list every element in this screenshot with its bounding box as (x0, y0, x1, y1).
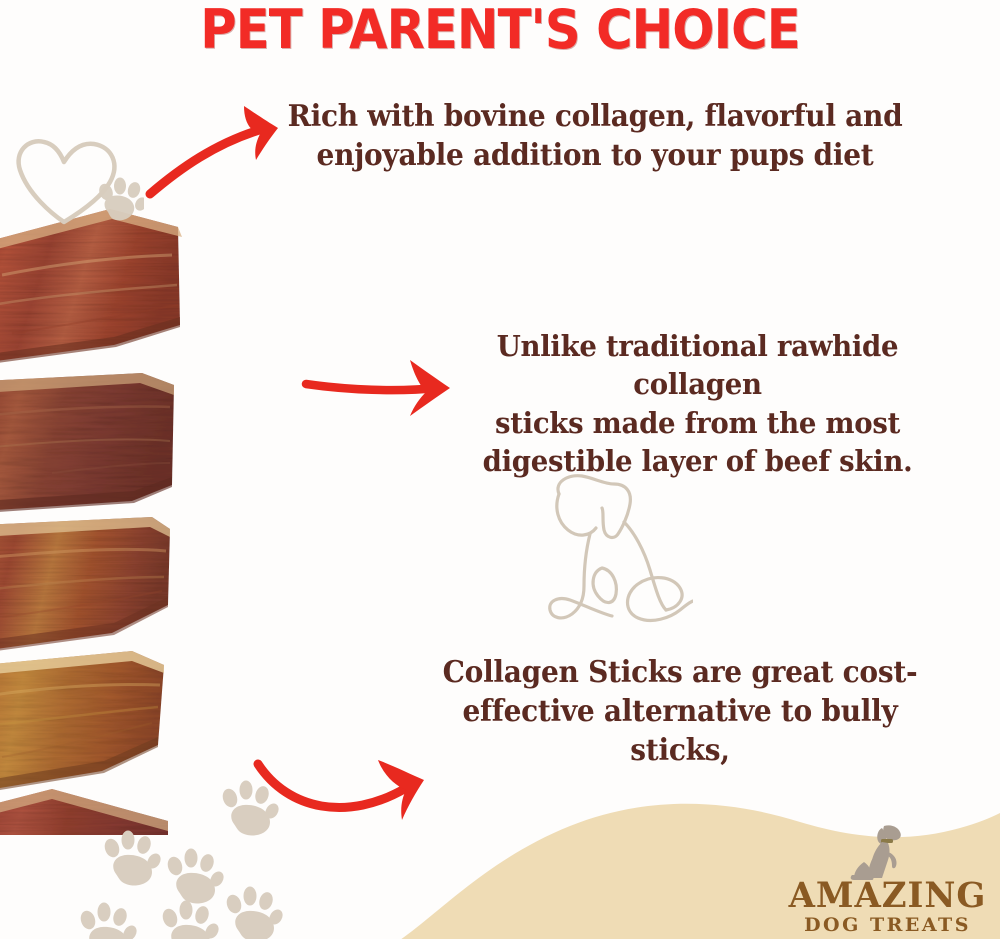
collagen-stick (0, 373, 174, 513)
feature-line: Collagen Sticks are great cost- (400, 653, 961, 692)
feature-line: effective alternative to bully (400, 692, 961, 731)
brand-tagline: DOG TREATS (780, 916, 995, 935)
feature-line: sticks, (400, 731, 961, 770)
collagen-sticks-photo (0, 185, 352, 835)
paw-print-icon (222, 884, 284, 939)
brand-name: AMAZING (783, 878, 992, 913)
paw-print-icon (158, 898, 220, 939)
feature-text-collagen-rich: Rich with bovine collagen, flavorful and… (272, 97, 918, 175)
feature-line: digestible layer of beef skin. (434, 442, 961, 480)
brand-logo: AMAZING DOG TREATS (780, 822, 995, 939)
heart-with-paw-icon (4, 128, 144, 228)
feature-line: Rich with bovine collagen, flavorful and (272, 97, 918, 136)
feature-line: enjoyable addition to your pups diet (272, 136, 918, 175)
feature-text-cost-effective: Collagen Sticks are great cost- effectiv… (400, 653, 961, 770)
paw-print-icon (76, 900, 138, 939)
paw-print-icon (100, 828, 162, 892)
collagen-stick (0, 517, 170, 653)
collagen-stick (0, 209, 182, 365)
feature-text-digestible-layer: Unlike traditional rawhide collagen stic… (434, 327, 961, 480)
product-infographic: PET PARENT'S CHOICE (0, 0, 1000, 939)
collagen-stick (0, 651, 164, 793)
dog-outline-icon (528, 458, 693, 643)
feature-line: sticks made from the most (434, 404, 961, 442)
feature-line: Unlike traditional rawhide collagen (434, 327, 961, 404)
page-title: PET PARENT'S CHOICE (40, 2, 960, 59)
